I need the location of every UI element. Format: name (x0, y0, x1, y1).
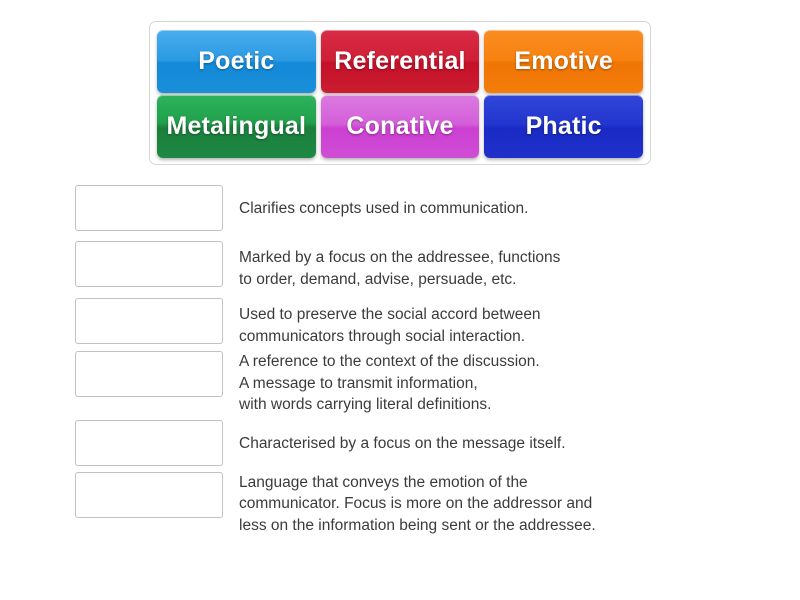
answer-line: communicators through social interaction… (239, 326, 541, 348)
drop-slot-1[interactable] (75, 185, 223, 231)
tile-poetic[interactable]: Poetic (157, 30, 316, 93)
tile-phatic[interactable]: Phatic (484, 95, 643, 158)
answer-row: Characterised by a focus on the message … (0, 420, 800, 466)
answer-line: communicator. Focus is more on the addre… (239, 493, 596, 515)
answer-row: A reference to the context of the discus… (0, 351, 800, 416)
tile-metalingual[interactable]: Metalingual (157, 95, 316, 158)
answer-line: Characterised by a focus on the message … (239, 433, 566, 455)
answer-row: Language that conveys the emotion of the… (0, 472, 800, 537)
drop-slot-6[interactable] (75, 472, 223, 518)
answer-line: Language that conveys the emotion of the (239, 472, 596, 494)
answer-text-2: Marked by a focus on the addressee, func… (239, 241, 560, 290)
answer-line: with words carrying literal definitions. (239, 394, 540, 416)
answer-text-1: Clarifies concepts used in communication… (239, 185, 528, 220)
drop-slot-3[interactable] (75, 298, 223, 344)
drop-slot-5[interactable] (75, 420, 223, 466)
answer-text-4: A reference to the context of the discus… (239, 351, 540, 416)
tile-row-top: Poetic Referential Emotive (157, 30, 643, 93)
answer-line: Clarifies concepts used in communication… (239, 198, 528, 220)
answer-text-5: Characterised by a focus on the message … (239, 420, 566, 455)
answer-list: Clarifies concepts used in communication… (0, 185, 800, 544)
answer-row: Used to preserve the social accord betwe… (0, 298, 800, 347)
tile-bank: Poetic Referential Emotive Metalingual C… (149, 21, 651, 165)
answer-text-6: Language that conveys the emotion of the… (239, 472, 596, 537)
answer-row: Clarifies concepts used in communication… (0, 185, 800, 231)
tile-conative[interactable]: Conative (321, 95, 480, 158)
drop-slot-4[interactable] (75, 351, 223, 397)
answer-line: Used to preserve the social accord betwe… (239, 304, 541, 326)
answer-line: Marked by a focus on the addressee, func… (239, 247, 560, 269)
drop-slot-2[interactable] (75, 241, 223, 287)
answer-line: A reference to the context of the discus… (239, 351, 540, 373)
tile-emotive[interactable]: Emotive (484, 30, 643, 93)
answer-row: Marked by a focus on the addressee, func… (0, 241, 800, 290)
answer-line: to order, demand, advise, persuade, etc. (239, 269, 560, 291)
tile-referential[interactable]: Referential (321, 30, 480, 93)
answer-line: A message to transmit information, (239, 373, 540, 395)
answer-line: less on the information being sent or th… (239, 515, 596, 537)
tile-row-bottom: Metalingual Conative Phatic (157, 95, 643, 158)
answer-text-3: Used to preserve the social accord betwe… (239, 298, 541, 347)
